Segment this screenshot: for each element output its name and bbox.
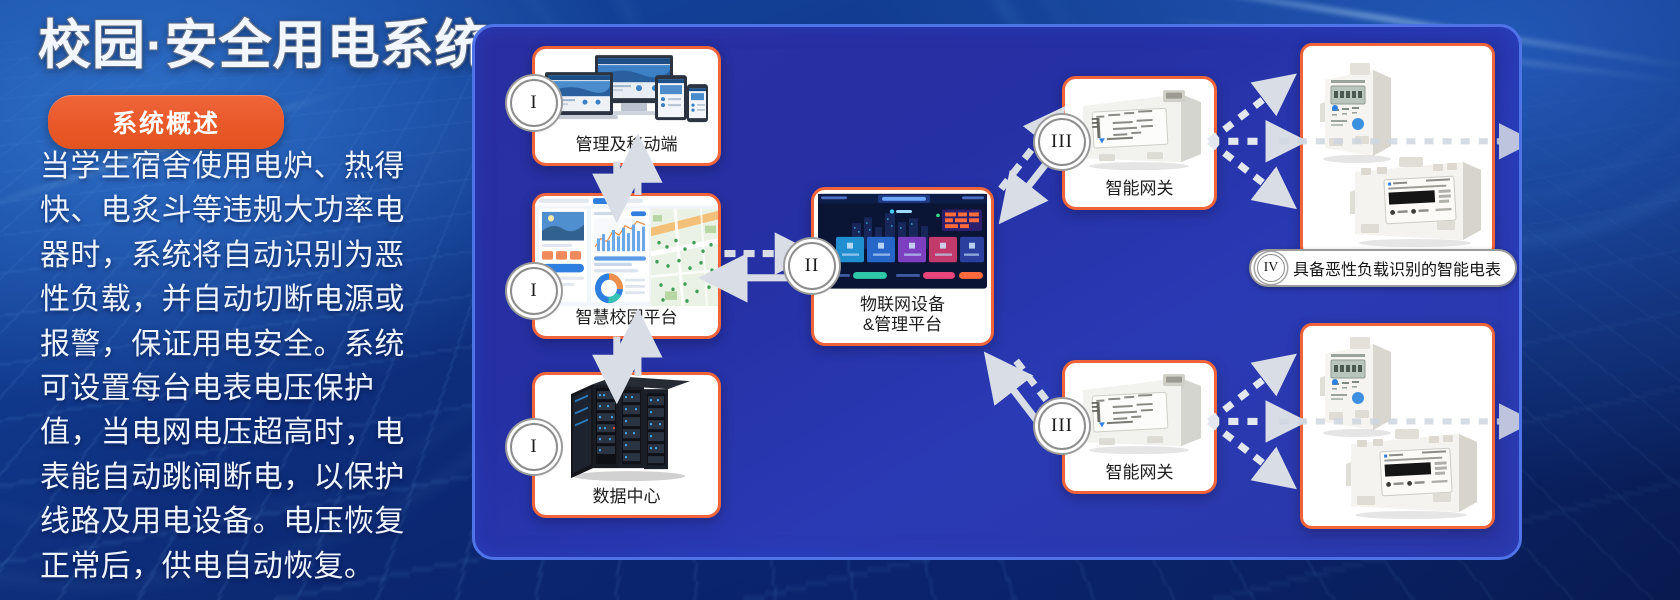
badge-gateway-top: III <box>1038 118 1086 166</box>
connector-gateway-top-meters <box>1209 91 1279 192</box>
section-badge-overview: 系统概述 <box>48 95 284 149</box>
server-rack-icon <box>535 375 718 485</box>
node-label-gateway-top: 智能网关 <box>1065 177 1214 207</box>
meter-panel-top[interactable] <box>1300 43 1495 258</box>
node-label-smart-campus: 智慧校园平台 <box>535 306 718 336</box>
overview-text: 当学生宿舍使用电炉、热得快、电炙斗等违规大功率电器时，系统将自动识别为恶性负载，… <box>40 145 435 589</box>
connector-campus-datacenter <box>617 337 638 376</box>
meter-group-label[interactable]: IV 具备恶性负载识别的智能电表 <box>1249 249 1517 287</box>
gateway-device-icon <box>1065 363 1214 461</box>
node-label-admin-mobile: 管理及移动端 <box>535 133 718 163</box>
smart-meter-icon <box>1303 326 1492 526</box>
iot-dashboard-icon <box>814 190 991 293</box>
node-label-gateway-bottom: 智能网关 <box>1065 461 1214 491</box>
overview-paragraph: 当学生宿舍使用电炉、热得快、电炙斗等违规大功率电器时，系统将自动识别为恶性负载，… <box>40 145 435 589</box>
node-data-center[interactable]: 数据中心 <box>532 372 721 518</box>
connector-admin-campus <box>617 162 638 195</box>
connector-gateway-bottom-meters <box>1209 371 1279 472</box>
dashboard-map-icon <box>535 196 718 306</box>
screenshot-root: 校园·安全用电系统 系统概述 当学生宿舍使用电炉、热得快、电炙斗等违规大功率电器… <box>0 0 1680 600</box>
smart-meter-icon <box>1303 46 1492 255</box>
meter-panel-bottom[interactable] <box>1300 323 1495 529</box>
node-label-iot-platform: 物联网设备 &管理平台 <box>814 293 991 343</box>
gateway-device-icon <box>1065 79 1214 177</box>
badge-gateway-bottom: III <box>1038 402 1086 450</box>
node-smart-campus[interactable]: 智慧校园平台 <box>532 193 721 339</box>
node-iot-platform[interactable]: 物联网设备 &管理平台 <box>811 187 994 346</box>
architecture-diagram: 管理及移动端 I <box>472 24 1522 560</box>
badge-iot-platform: II <box>788 242 836 290</box>
badge-meter-group: IV <box>1257 254 1285 282</box>
badge-admin-mobile: I <box>510 79 558 127</box>
badge-data-center: I <box>510 423 558 471</box>
meter-group-label-text: 具备恶性负载识别的智能电表 <box>1293 256 1501 280</box>
node-admin-mobile[interactable]: 管理及移动端 <box>532 46 721 166</box>
node-label-data-center: 数据中心 <box>535 485 718 515</box>
devices-icon <box>535 49 718 133</box>
connector-campus-iot <box>724 254 792 278</box>
badge-smart-campus: I <box>510 267 558 315</box>
node-label-iot-line1: 物联网设备 <box>860 295 945 314</box>
page-title: 校园·安全用电系统 <box>38 16 489 75</box>
node-label-iot-line2: &管理平台 <box>814 315 991 336</box>
overview-panel: 校园·安全用电系统 系统概述 当学生宿舍使用电炉、热得快、电炙斗等违规大功率电器… <box>0 0 470 600</box>
